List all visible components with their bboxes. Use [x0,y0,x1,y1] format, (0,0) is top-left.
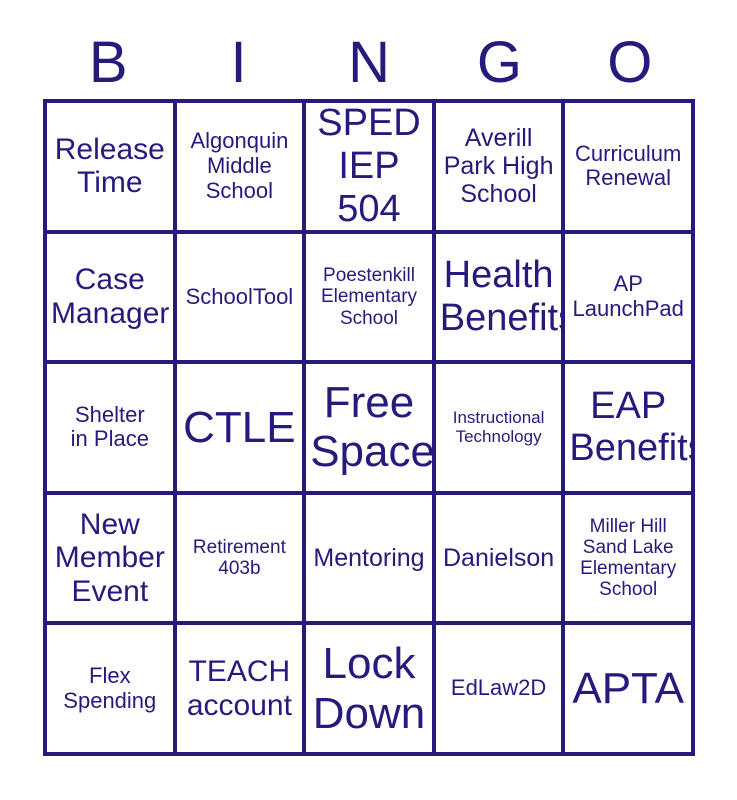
bingo-cell-label: EdLaw2D [440,676,558,701]
bingo-cell-g4[interactable]: Danielson [436,495,566,626]
bingo-cell-n2[interactable]: Poestenkill Elementary School [306,234,436,365]
bingo-header-letter-n: N [304,28,434,98]
bingo-cell-o4[interactable]: Miller Hill Sand Lake Elementary School [565,495,695,626]
bingo-cell-label: Curriculum Renewal [569,142,687,191]
bingo-cell-label: Flex Spending [51,664,169,713]
bingo-cell-i2[interactable]: SchoolTool [177,234,307,365]
bingo-cell-label: SchoolTool [181,285,299,310]
bingo-cell-label: Shelter in Place [51,403,169,452]
bingo-cell-label: TEACH account [181,655,299,722]
bingo-cell-label: Health Benefits [440,254,558,339]
bingo-cell-i1[interactable]: Algonquin Middle School [177,103,307,234]
bingo-cell-label: APTA [569,664,687,713]
bingo-cell-b2[interactable]: Case Manager [47,234,177,365]
bingo-cell-label: SPED IEP 504 [310,103,428,230]
bingo-cell-g2[interactable]: Health Benefits [436,234,566,365]
bingo-cell-label: Case Manager [51,263,169,330]
bingo-cell-label: CTLE [181,403,299,452]
bingo-cell-i5[interactable]: TEACH account [177,625,307,756]
bingo-cell-label: Poestenkill Elementary School [310,265,428,329]
bingo-header-letter-o: O [565,28,695,98]
bingo-cell-b3[interactable]: Shelter in Place [47,364,177,495]
bingo-cell-o2[interactable]: AP LaunchPad [565,234,695,365]
bingo-cell-label: Retirement 403b [181,537,299,580]
bingo-cell-free-space[interactable]: Free Space [306,364,436,495]
bingo-cell-o5[interactable]: APTA [565,625,695,756]
bingo-cell-b4[interactable]: New Member Event [47,495,177,626]
bingo-cell-label: Release Time [51,133,169,200]
bingo-card: B I N G O Release Time Algonquin Middle … [0,0,737,800]
bingo-cell-o3[interactable]: EAP Benefits [565,364,695,495]
bingo-header-letter-i: I [173,28,303,98]
bingo-cell-label: Danielson [440,544,558,572]
bingo-cell-i4[interactable]: Retirement 403b [177,495,307,626]
bingo-cell-g3[interactable]: Instructional Technology [436,364,566,495]
bingo-cell-label: EAP Benefits [569,385,687,470]
bingo-cell-label: Lock Down [310,639,428,738]
bingo-cell-g5[interactable]: EdLaw2D [436,625,566,756]
bingo-cell-label: Algonquin Middle School [181,129,299,203]
bingo-cell-label: New Member Event [51,508,169,609]
bingo-cell-g1[interactable]: Averill Park High School [436,103,566,234]
bingo-header-letter-b: B [43,28,173,98]
bingo-cell-o1[interactable]: Curriculum Renewal [565,103,695,234]
bingo-cell-b1[interactable]: Release Time [47,103,177,234]
bingo-cell-label: Miller Hill Sand Lake Elementary School [569,516,687,601]
bingo-cell-b5[interactable]: Flex Spending [47,625,177,756]
bingo-cell-label: AP LaunchPad [569,272,687,321]
bingo-cell-i3[interactable]: CTLE [177,364,307,495]
bingo-cell-n1[interactable]: SPED IEP 504 [306,103,436,234]
bingo-grid: Release Time Algonquin Middle School SPE… [43,99,695,756]
bingo-header-letter-g: G [434,28,564,98]
bingo-cell-n5[interactable]: Lock Down [306,625,436,756]
bingo-cell-label: Mentoring [310,544,428,572]
bingo-cell-label: Free Space [310,378,428,477]
bingo-header-row: B I N G O [43,28,695,98]
bingo-cell-label: Averill Park High School [440,124,558,208]
bingo-cell-label: Instructional Technology [440,408,558,446]
bingo-cell-n4[interactable]: Mentoring [306,495,436,626]
